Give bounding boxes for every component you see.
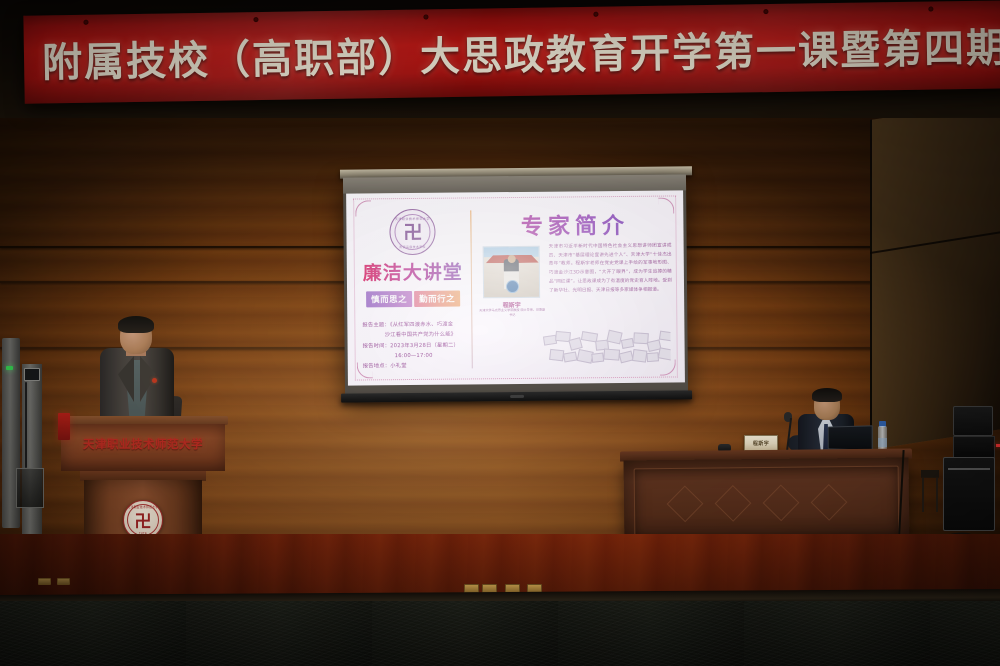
apron-texture xyxy=(0,601,1000,666)
floor-outlet-cover xyxy=(38,578,51,585)
flight-case-band xyxy=(948,468,990,470)
collage-item xyxy=(621,338,634,349)
emblem-arc-bottom-text: 附属高级技术学校 xyxy=(391,245,435,249)
projection-screen: 天津职业技术师范大学 卍 附属高级技术学校 廉洁大讲堂 慎而思之 勤而行之 报告… xyxy=(343,174,688,395)
university-emblem-icon: 天津职业技术师范大学 卍 附属高级技术学校 xyxy=(389,209,435,255)
slogan-badge: 勤而行之 xyxy=(414,291,460,307)
equipment-shelf xyxy=(16,468,44,508)
banner-grommet xyxy=(928,6,933,11)
event-banner: 附属技校（高职部）大思政教育开学第一课暨第四期廉洁大讲堂 xyxy=(23,0,1000,104)
collage-item xyxy=(606,330,622,345)
lapel-pin-icon xyxy=(152,378,157,383)
speaker-portrait-photo xyxy=(483,246,540,299)
stage-stool xyxy=(921,470,939,512)
water-bottle-label xyxy=(878,438,887,447)
collage-item xyxy=(563,351,577,362)
collage-item xyxy=(549,349,564,362)
speaker-title-caption: 天津大学马克思主义学院教授 硕士导师、党委副书记 xyxy=(479,308,545,318)
banner-grommet xyxy=(593,12,598,17)
photo-podium-seal xyxy=(506,280,519,293)
control-panel-cable xyxy=(25,382,27,468)
slogan-badge: 慎而思之 xyxy=(366,291,412,307)
speaker-bio-text: 天津市习近平新时代中国特色社会主义思想讲师团宣讲成员、天津市“基层理论宣讲先进个… xyxy=(549,242,672,295)
stool-leg xyxy=(936,478,938,512)
slide-meta-line: 报告时间：2023年3月28日（星期二） xyxy=(360,340,468,351)
slide-meta-line: 沙江看中国共产党为什么能》 xyxy=(359,330,467,341)
slide-section-heading: 专家简介 xyxy=(478,208,671,242)
laptop-screen xyxy=(828,425,873,450)
seated-speaker-hair xyxy=(812,388,842,402)
collage-item xyxy=(603,348,620,360)
floor-outlet-cover xyxy=(57,578,70,585)
banner-grommet xyxy=(423,14,428,19)
screen-bar-knob xyxy=(510,395,524,398)
banner-grommet xyxy=(83,20,88,25)
slide-meta-line: 报告地点：小礼堂 xyxy=(360,361,468,372)
publication-collage xyxy=(541,329,670,372)
banner-grommet xyxy=(763,9,768,14)
auditorium-photo: 附属技校（高职部）大思政教育开学第一课暨第四期廉洁大讲堂 天津职业技术师范大学 … xyxy=(0,0,1000,666)
slide-right-column: 专家简介 程斯宇 天津大学马克思主义学院教授 硕士导师、党委副书记 天津市习近平… xyxy=(478,201,673,377)
slide-series-title: 廉洁大讲堂 xyxy=(359,257,467,285)
photo-figure-head xyxy=(507,255,515,263)
slide-left-column: 天津职业技术师范大学 卍 附属高级技术学校 廉洁大讲堂 慎而思之 勤而行之 报告… xyxy=(358,202,468,375)
table-namecard: 程斯宇 xyxy=(744,435,778,451)
collage-item xyxy=(658,347,671,361)
slide-slogan-badges: 慎而思之 勤而行之 xyxy=(359,290,467,307)
collage-item xyxy=(632,349,647,363)
lectern-front-panel: 天津职业技术师范大学 xyxy=(61,424,225,471)
power-led-indicator xyxy=(6,366,13,370)
lectern-university-text: 天津职业技术师范大学 xyxy=(61,436,225,452)
podium-and-speaker: 天津职业技术师范大学 天津职业技术师范大学 卍 TUTE xyxy=(58,318,228,558)
banner-grommet xyxy=(253,17,258,22)
red-wall-box xyxy=(58,413,70,440)
control-panel-display xyxy=(24,368,40,381)
flight-case-top xyxy=(953,406,993,436)
flight-case-large xyxy=(943,457,995,531)
stool-leg xyxy=(922,478,924,512)
collage-item xyxy=(591,353,604,363)
case-status-led xyxy=(996,444,1000,447)
emblem-glyph: 卍 xyxy=(403,218,421,245)
collage-item xyxy=(659,331,671,342)
standing-speaker-hair xyxy=(118,316,154,333)
head-table-area: 程斯宇 xyxy=(620,388,920,553)
standing-speaker-lapel xyxy=(118,356,134,402)
lectern-emblem-glyph: 卍 xyxy=(135,507,152,532)
presentation-slide: 天津职业技术师范大学 卍 附属高级技术学校 廉洁大讲堂 慎而思之 勤而行之 报告… xyxy=(346,190,685,385)
slide-meta-block: 报告主题：《从红军四渡赤水、巧渡金 沙江看中国共产党为什么能》 报告时间：202… xyxy=(359,319,467,372)
table-namecard-text: 程斯宇 xyxy=(753,440,769,447)
